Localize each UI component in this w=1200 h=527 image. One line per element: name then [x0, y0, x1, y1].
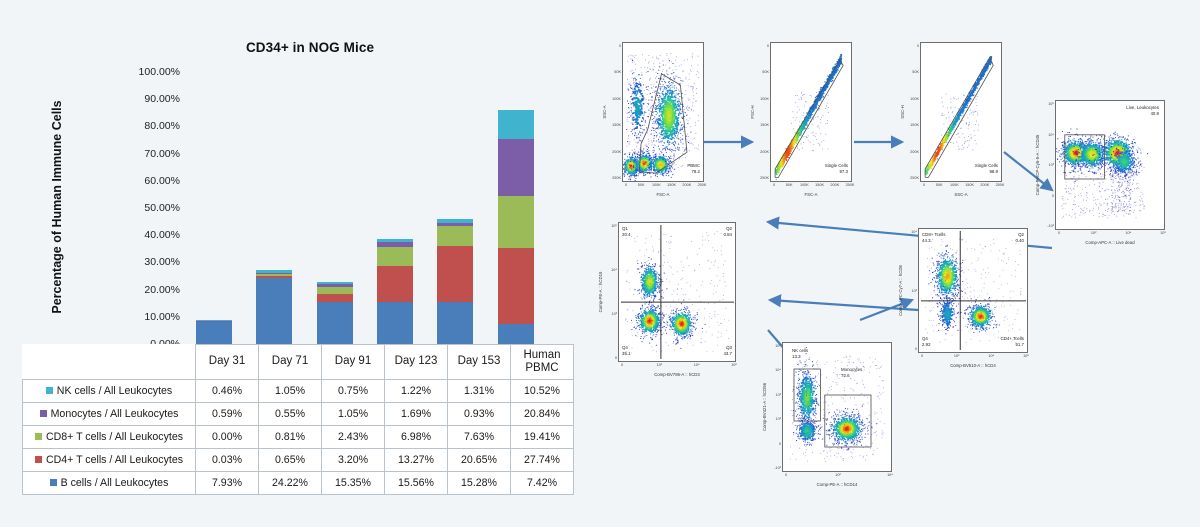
y-tick: 10² [770, 417, 781, 421]
plot-frame: CD8+ Tcells44.3Q20.40CD4+ Tcells51.7Q42.… [918, 228, 1028, 353]
x-tick: 10⁴ [694, 363, 700, 367]
x-tick: 150K [667, 183, 676, 187]
plot-frame: Q120.4Q20.84Q343.7Q435.1 [618, 222, 736, 362]
y-tick: 50K [610, 70, 621, 74]
y-tick: 0 [606, 356, 617, 360]
column-header-4: Day 153 [448, 345, 511, 380]
bar-stack [196, 320, 232, 344]
y-tick: 0 [906, 347, 917, 351]
bar-stack [256, 270, 292, 344]
y-axis-label: Comp-APC-Cy7-A :: hCD8 [898, 228, 903, 353]
y-tick-label: 10.00% [144, 311, 180, 323]
table-cell: 7.63% [448, 426, 511, 449]
bar-segment-1[interactable] [317, 294, 353, 303]
legend-swatch-icon [50, 479, 57, 486]
y-tick: 0 [758, 44, 769, 48]
table-cell: 20.84% [511, 403, 574, 426]
y-axis-tick-labels: 0.00%10.00%20.00%30.00%40.00%50.00%60.00… [108, 68, 180, 344]
table-cell: 0.81% [259, 426, 322, 449]
table-row: CD4+ T cells / All Leukocytes0.03%0.65%3… [23, 449, 574, 472]
flow-cytometry-panel: PBMC78.2050K100K150K200K250K050K100K150K… [600, 0, 1200, 527]
bar-chart-panel: CD34+ in NOG Mice Percentage of Human Im… [0, 0, 600, 527]
y-tick: 10³ [770, 393, 781, 397]
table-row: NK cells / All Leukocytes0.46%1.05%0.75%… [23, 380, 574, 403]
x-tick: 10⁴ [887, 473, 893, 477]
legend-label-text: B cells / All Leukocytes [61, 477, 169, 489]
y-tick-label: 100.00% [139, 66, 180, 78]
x-axis-label: SSC-A [920, 192, 1002, 197]
y-tick-labels: 10⁵10⁴10³10²0-10² [770, 342, 781, 472]
y-tick-label: 50.00% [144, 202, 180, 214]
table-cell: 13.27% [385, 449, 448, 472]
x-tick: 200K [980, 183, 989, 187]
y-tick: 100K [610, 97, 621, 101]
legend-row-label: CD8+ T cells / All Leukocytes [23, 426, 196, 449]
plot-frame: Single Cells98.9 [920, 42, 1002, 182]
plot-frame: PBMC78.2 [622, 42, 704, 182]
y-tick-label: 40.00% [144, 229, 180, 241]
y-tick: 10⁵ [770, 344, 781, 348]
y-axis-label: SSC-H [900, 42, 905, 182]
y-tick: 0 [770, 442, 781, 446]
legend-row-label: Monocytes / All Leukocytes [23, 403, 196, 426]
x-tick: 0 [921, 354, 923, 358]
x-tick: 50K [936, 183, 943, 187]
bar-column[interactable] [486, 72, 546, 344]
bar-segment-0[interactable] [317, 302, 353, 344]
y-tick: 150K [758, 123, 769, 127]
x-tick: 10² [835, 473, 841, 477]
x-tick: 0 [785, 473, 787, 477]
bar-segment-4[interactable] [498, 110, 534, 139]
legend-swatch-icon [46, 387, 53, 394]
x-tick: 0 [923, 183, 925, 187]
y-tick-labels: 10⁴10³0 [906, 228, 917, 353]
y-tick: 250K [610, 176, 621, 180]
legend-row-label: CD4+ T cells / All Leukocytes [23, 449, 196, 472]
x-axis-label: FSC-A [770, 192, 852, 197]
legend-row-label: NK cells / All Leukocytes [23, 380, 196, 403]
density-scatter [771, 43, 852, 182]
y-tick: 10⁵ [1043, 102, 1054, 106]
y-tick: 200K [610, 150, 621, 154]
table-cell: 1.05% [259, 380, 322, 403]
legend-label-text: CD8+ T cells / All Leukocytes [46, 431, 183, 443]
column-header-0: Day 31 [196, 345, 259, 380]
bar-segment-2[interactable] [317, 287, 353, 294]
y-tick-labels: 10⁵10⁴10³0-10² [1043, 100, 1054, 230]
bar-stack [498, 110, 534, 344]
table-cell: 1.31% [448, 380, 511, 403]
y-tick: 10⁴ [606, 268, 617, 272]
x-axis-label: Comp-APC-A :: Live dead [1055, 240, 1165, 245]
table-cell: 0.03% [196, 449, 259, 472]
x-tick: 200K [830, 183, 839, 187]
y-tick-label: 30.00% [144, 256, 180, 268]
bar-segment-0[interactable] [437, 302, 473, 344]
y-tick-label: 70.00% [144, 148, 180, 160]
x-tick: 250K [996, 183, 1005, 187]
y-axis-label: Comp-BV421-A :: hCD56 [762, 342, 767, 472]
x-tick: 10⁴ [988, 354, 994, 358]
y-tick: 0 [908, 44, 919, 48]
page-title: CD34+ in NOG Mice [150, 40, 470, 55]
legend-row-label: B cells / All Leukocytes [23, 472, 196, 495]
y-axis-label: Comp-PerCP-Cy5-5-A :: hCD45 [1035, 100, 1040, 230]
x-axis-label: Comp-BV510-A :: hCD4 [918, 363, 1028, 368]
x-tick: 10² [1091, 231, 1097, 235]
bar-column[interactable] [184, 72, 244, 344]
fcs-plot-pbmc-scatter[interactable]: PBMC78.2050K100K150K200K250K050K100K150K… [622, 42, 704, 182]
y-tick: 10⁴ [906, 230, 917, 234]
y-tick: 50K [908, 70, 919, 74]
bar-segment-0[interactable] [256, 278, 292, 344]
y-tick: 10³ [606, 312, 617, 316]
y-tick-labels: 050K100K150K200K250K [610, 42, 621, 182]
bar-segment-1[interactable] [498, 248, 534, 323]
x-tick: 250K [698, 183, 707, 187]
bar-segment-0[interactable] [377, 302, 413, 344]
column-header-2: Day 91 [322, 345, 385, 380]
x-tick: 200K [682, 183, 691, 187]
table-cell: 7.42% [511, 472, 574, 495]
column-header-1: Day 71 [259, 345, 322, 380]
density-scatter [1056, 101, 1165, 230]
bar-stack [437, 219, 473, 344]
x-tick: 0 [773, 183, 775, 187]
x-tick: 0 [1058, 231, 1060, 235]
fcs-plot-single-cells-ssc[interactable]: Single Cells98.9050K100K150K200K250K050K… [920, 42, 1002, 182]
table-cell: 0.65% [259, 449, 322, 472]
x-axis-label: FSC-A [622, 192, 704, 197]
y-tick-labels: 050K100K150K200K250K [758, 42, 769, 182]
table-cell: 0.46% [196, 380, 259, 403]
bar-segment-2[interactable] [437, 226, 473, 247]
density-scatter [623, 43, 704, 182]
table-row: CD8+ T cells / All Leukocytes0.00%0.81%2… [23, 426, 574, 449]
plot-frame: Single Cells97.3 [770, 42, 852, 182]
bar-column[interactable] [244, 72, 304, 344]
legend-swatch-icon [35, 456, 42, 463]
x-tick: 10⁵ [1023, 354, 1029, 358]
bar-segment-0[interactable] [196, 322, 232, 344]
y-axis-label: SSC-A [602, 42, 607, 182]
table-cell: 7.93% [196, 472, 259, 495]
table-cell: 2.43% [322, 426, 385, 449]
y-tick: 150K [908, 123, 919, 127]
x-tick: 0 [621, 363, 623, 367]
bar-stack [377, 239, 413, 344]
data-table: Day 31Day 71Day 91Day 123Day 153Human PB… [22, 344, 574, 495]
y-tick-label: 20.00% [144, 284, 180, 296]
x-tick: 10² [657, 363, 663, 367]
y-axis-label: Comp-PE-A :: hCD19 [598, 222, 603, 362]
plot-frame: NK cells13.3Monocytes72.6 [782, 342, 892, 472]
y-tick: 10³ [906, 289, 917, 293]
y-tick: 250K [758, 176, 769, 180]
x-axis-label: Comp-PE-A :: hCD14 [782, 482, 892, 487]
bar-stack [317, 282, 353, 344]
x-tick: 100K [950, 183, 959, 187]
x-tick: 250K [846, 183, 855, 187]
bar-segment-1[interactable] [377, 266, 413, 302]
x-tick: 10⁵ [731, 363, 737, 367]
x-tick: 50K [638, 183, 645, 187]
bar-segment-2[interactable] [498, 196, 534, 249]
table-body: NK cells / All Leukocytes0.46%1.05%0.75%… [23, 380, 574, 495]
y-tick: 10⁴ [770, 368, 781, 372]
y-tick: 200K [758, 150, 769, 154]
legend-swatch-icon [35, 433, 42, 440]
table-cell: 0.59% [196, 403, 259, 426]
y-tick: -10² [1043, 224, 1054, 228]
table-corner-cell [23, 345, 196, 380]
fcs-plot-live-leukocytes[interactable]: Live, Leukocytes40.9010²10⁴10⁵10⁵10⁴10³0… [1055, 100, 1165, 230]
table-cell: 15.35% [322, 472, 385, 495]
legend-swatch-icon [40, 410, 47, 417]
y-tick-label: 80.00% [144, 120, 180, 132]
bar-segment-1[interactable] [437, 246, 473, 302]
x-tick: 150K [815, 183, 824, 187]
y-tick: 250K [908, 176, 919, 180]
density-scatter [783, 343, 892, 472]
table-cell: 1.22% [385, 380, 448, 403]
legend-label-text: Monocytes / All Leukocytes [51, 408, 179, 420]
x-tick: 150K [965, 183, 974, 187]
x-tick: 10⁴ [1125, 231, 1131, 235]
y-axis-label: FSC-H [750, 42, 755, 182]
fcs-plot-single-cells-fsc[interactable]: Single Cells97.3050K100K150K200K250K050K… [770, 42, 852, 182]
plot-area [184, 72, 546, 344]
y-tick: 200K [908, 150, 919, 154]
y-tick: 50K [758, 70, 769, 74]
bar-segment-3[interactable] [498, 139, 534, 196]
table-cell: 19.41% [511, 426, 574, 449]
x-tick: 10⁵ [1160, 231, 1166, 235]
bar-segment-0[interactable] [498, 324, 534, 344]
y-tick: 10³ [1043, 163, 1054, 167]
x-tick: 10² [954, 354, 960, 358]
y-tick: 0 [1043, 194, 1054, 198]
table-cell: 24.22% [259, 472, 322, 495]
legend-label-text: CD4+ T cells / All Leukocytes [46, 454, 183, 466]
y-tick: 10⁵ [606, 224, 617, 228]
y-tick-labels: 050K100K150K200K250K [908, 42, 919, 182]
legend-label-text: NK cells / All Leukocytes [57, 385, 172, 397]
bar-column[interactable] [425, 72, 485, 344]
bar-column[interactable] [365, 72, 425, 344]
bar-segment-2[interactable] [377, 247, 413, 266]
x-tick: 0 [625, 183, 627, 187]
table-cell: 3.20% [322, 449, 385, 472]
table-cell: 0.75% [322, 380, 385, 403]
table-cell: 0.55% [259, 403, 322, 426]
density-scatter [919, 229, 1028, 353]
x-tick: 50K [786, 183, 793, 187]
column-header-3: Day 123 [385, 345, 448, 380]
table-cell: 1.05% [322, 403, 385, 426]
y-tick-label: 60.00% [144, 175, 180, 187]
table-cell: 0.00% [196, 426, 259, 449]
y-axis-title: Percentage of Human Immune Cells [50, 92, 64, 322]
fcs-plot-nk-monocytes[interactable]: NK cells13.3Monocytes72.6010²10⁴10⁵10⁴10… [782, 342, 892, 472]
table-cell: 1.69% [385, 403, 448, 426]
table-cell: 27.74% [511, 449, 574, 472]
y-tick: 150K [610, 123, 621, 127]
y-tick-label: 90.00% [144, 93, 180, 105]
y-tick: 10⁴ [1043, 133, 1054, 137]
plot-frame: Live, Leukocytes40.9 [1055, 100, 1165, 230]
y-tick: 100K [758, 97, 769, 101]
density-scatter [619, 223, 736, 362]
table-row: B cells / All Leukocytes7.93%24.22%15.35… [23, 472, 574, 495]
x-tick: 100K [652, 183, 661, 187]
table-row: Monocytes / All Leukocytes0.59%0.55%1.05… [23, 403, 574, 426]
table-cell: 0.93% [448, 403, 511, 426]
table-cell: 15.56% [385, 472, 448, 495]
bar-column[interactable] [305, 72, 365, 344]
x-axis-label: Comp-BV786-A :: hCD3 [618, 372, 736, 377]
y-tick-labels: 10⁵10⁴10³0 [606, 222, 617, 362]
density-scatter [921, 43, 1002, 182]
table-cell: 6.98% [385, 426, 448, 449]
y-tick: -10² [770, 466, 781, 470]
y-tick: 0 [610, 44, 621, 48]
table-cell: 15.28% [448, 472, 511, 495]
table-cell: 20.65% [448, 449, 511, 472]
table-header-row: Day 31Day 71Day 91Day 123Day 153Human PB… [23, 345, 574, 380]
column-header-5: Human PBMC [511, 345, 574, 380]
fcs-plot-cd4-cd8-quadrant[interactable]: CD8+ Tcells44.3Q20.40CD4+ Tcells51.7Q42.… [918, 228, 1028, 353]
fcs-plot-cd3-cd19-quadrant[interactable]: Q120.4Q20.84Q343.7Q435.1010²10⁴10⁵10⁵10⁴… [618, 222, 736, 362]
x-tick: 100K [800, 183, 809, 187]
y-tick: 100K [908, 97, 919, 101]
table-cell: 10.52% [511, 380, 574, 403]
